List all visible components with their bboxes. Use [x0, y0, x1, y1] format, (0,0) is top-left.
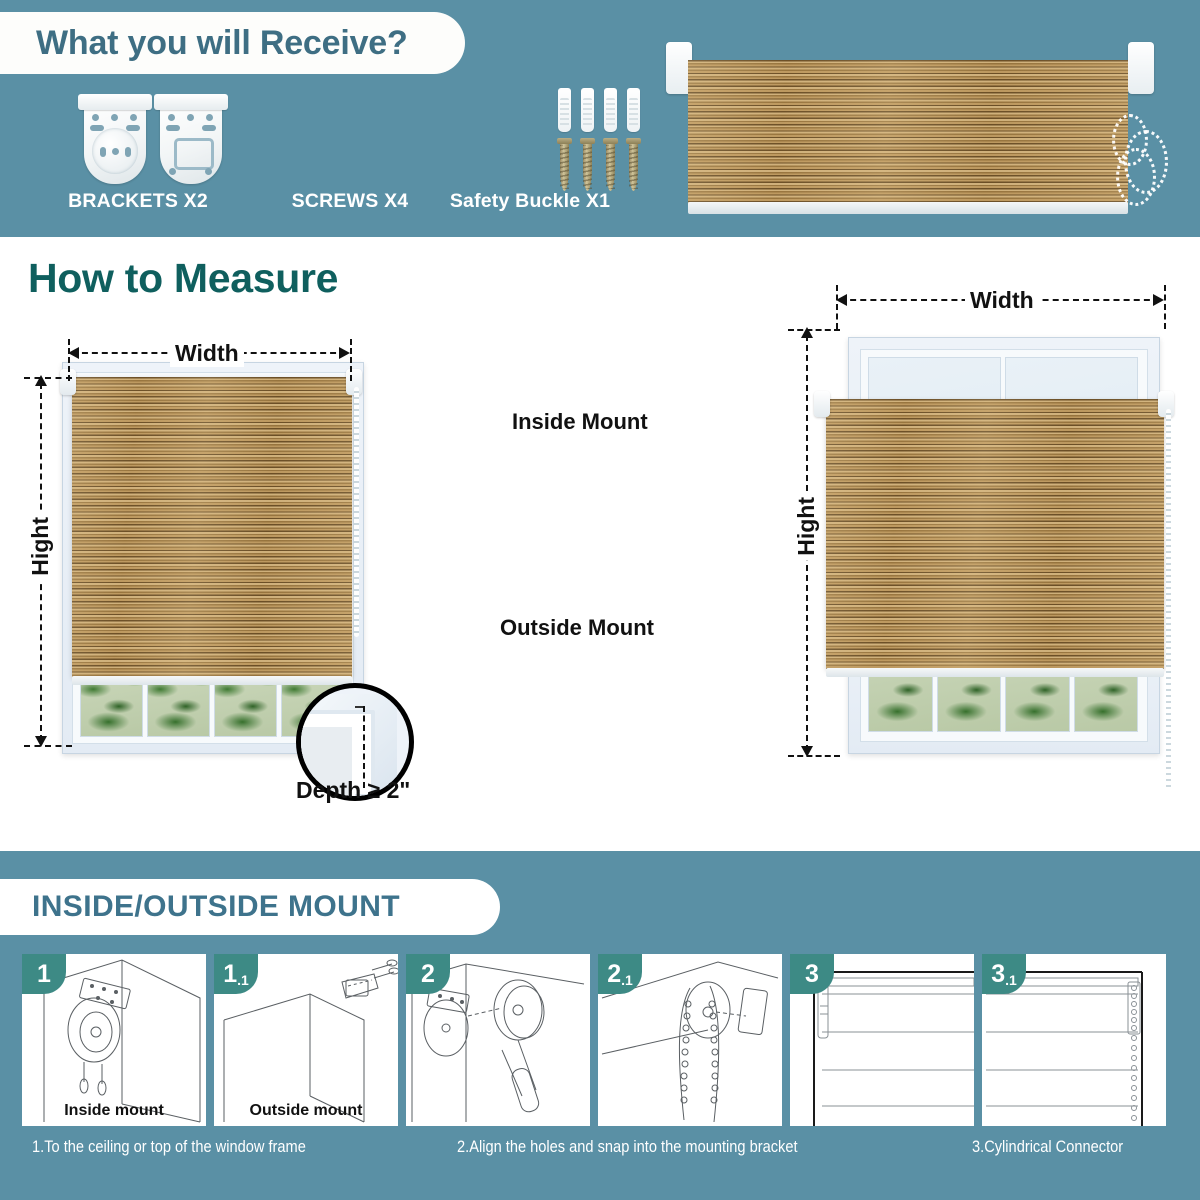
section-heading-measure: How to Measure [28, 255, 338, 302]
hero-bracket-right [1128, 42, 1154, 94]
bead-chain-icon [1112, 114, 1166, 214]
how-to-measure-section: How to Measure Inside Mount Outside Moun… [0, 237, 1200, 851]
outside-shade-fabric [826, 399, 1164, 669]
install-steps-panels: 1 [22, 954, 1182, 1126]
hero-shade-fabric [688, 60, 1128, 212]
install-step-captions: 1.To the ceiling or top of the window fr… [0, 1137, 1200, 1177]
depth-label: Depth ≥ 2" [296, 777, 410, 804]
step-badge-number: 3 [805, 960, 819, 989]
step-badge-sub: .1 [237, 972, 249, 988]
step-caption-1: Inside mount [22, 1102, 206, 1120]
bracket-icon [76, 92, 236, 187]
parts-list: BRACKETS X2 SCREWS X4 [0, 80, 640, 230]
width-arrow-right [339, 347, 350, 359]
part-label-brackets: BRACKETS X2 [18, 190, 258, 213]
install-caption-1: 1.To the ceiling or top of the window fr… [32, 1137, 306, 1157]
outside-bead-chain [1166, 409, 1171, 789]
outside-height-ext-top [788, 329, 840, 331]
infographic-page: What you will Receive? [0, 0, 1200, 1200]
install-caption-2: 2.Align the holes and snap into the moun… [457, 1137, 798, 1157]
step-badge-number: 3 [991, 960, 1005, 989]
hero-roller-shade [660, 42, 1160, 220]
width-arrow-left [68, 347, 79, 359]
install-steps-title-pill: INSIDE/OUTSIDE MOUNT [0, 879, 500, 935]
step-caption-1-1: Outside mount [214, 1102, 398, 1120]
step-panel-3: 3 [790, 954, 974, 1126]
page-title: What you will Receive? [36, 24, 408, 63]
outside-roller-end-left [814, 391, 830, 417]
step-panel-1: 1 [22, 954, 206, 1126]
install-caption-3: 3.Cylindrical Connector [972, 1137, 1123, 1157]
part-safety-buckle: Safety Buckle X1 [420, 86, 640, 213]
height-arrow-down [35, 736, 47, 747]
step-badge-number: 2 [421, 960, 435, 989]
part-brackets: BRACKETS X2 [18, 86, 258, 213]
step-panel-2-1: 2.1 [598, 954, 782, 1126]
outside-height-arrow-down [801, 746, 813, 757]
outside-width-ext-right [1164, 285, 1166, 329]
step-badge-sub: .1 [1005, 972, 1017, 988]
what-you-receive-title-pill: What you will Receive? [0, 12, 465, 74]
outside-height-ext-bottom [788, 755, 840, 757]
width-ext-right [350, 339, 352, 381]
outside-width-ext-left [836, 285, 838, 329]
hero-bottom-rail [688, 202, 1128, 214]
step-badge-number: 1 [37, 960, 51, 989]
outside-width-arrow-right [1153, 294, 1164, 306]
height-ext-bottom [24, 745, 72, 747]
install-steps-title: INSIDE/OUTSIDE MOUNT [32, 890, 400, 924]
step-panel-3-1: 3.1 [982, 954, 1166, 1126]
step-panel-1-1: 1.1 Outside mount [214, 954, 398, 1126]
step-badge-number: 2 [607, 960, 621, 989]
install-steps-section: INSIDE/OUTSIDE MOUNT 1 [0, 851, 1200, 1200]
height-label-inside: Hight [27, 512, 54, 581]
width-label-inside: Width [170, 340, 244, 367]
width-label-outside: Width [965, 287, 1039, 314]
height-label-outside: Hight [793, 492, 820, 561]
outside-width-arrow-left [836, 294, 847, 306]
part-label-safety-buckle: Safety Buckle X1 [420, 190, 640, 213]
outside-mount-label: Outside Mount [500, 615, 654, 641]
step-badge-sub: .1 [621, 972, 633, 988]
outside-height-arrow-up [801, 327, 813, 338]
width-ext-left [68, 339, 70, 381]
what-you-receive-section: What you will Receive? [0, 0, 1200, 237]
height-ext-top [24, 377, 72, 379]
height-arrow-up [35, 375, 47, 386]
step-badge-number: 1 [223, 960, 237, 989]
inside-bead-chain [354, 387, 359, 637]
step-panel-2: 2 [406, 954, 590, 1126]
inside-shade-fabric [72, 377, 352, 677]
inside-mount-label: Inside Mount [512, 409, 648, 435]
